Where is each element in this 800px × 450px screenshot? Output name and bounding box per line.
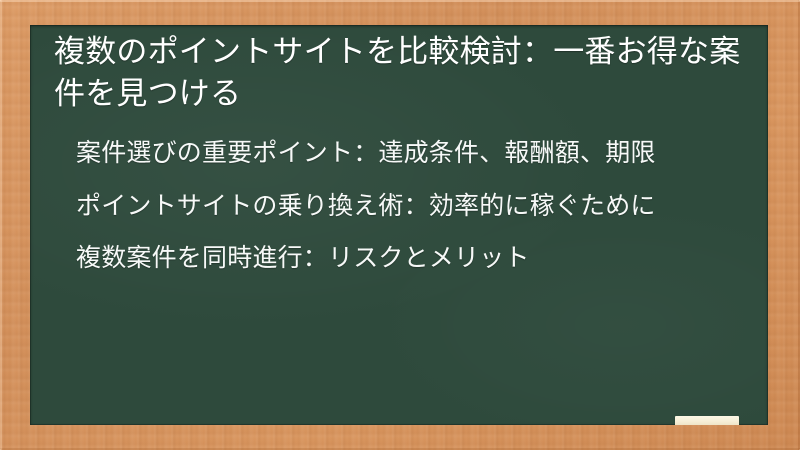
chalkboard-slide: 複数のポイントサイトを比較検討：一番お得な案件を見つける 案件選びの重要ポイント… (0, 0, 800, 450)
list-item: 複数案件を同時進行：リスクとメリット (76, 241, 748, 277)
list-item: 案件選びの重要ポイント：達成条件、報酬額、期限 (76, 136, 748, 172)
chalk-stick-icon (675, 416, 739, 425)
list-item: ポイントサイトの乗り換え術：効率的に稼ぐために (76, 189, 748, 225)
slide-title: 複数のポイントサイトを比較検討：一番お得な案件を見つける (54, 31, 744, 114)
chalkboard-surface: 複数のポイントサイトを比較検討：一番お得な案件を見つける 案件選びの重要ポイント… (30, 25, 768, 425)
chalkboard-content: 複数のポイントサイトを比較検討：一番お得な案件を見つける 案件選びの重要ポイント… (30, 25, 768, 425)
slide-topic-list: 案件選びの重要ポイント：達成条件、報酬額、期限 ポイントサイトの乗り換え術：効率… (54, 136, 746, 277)
